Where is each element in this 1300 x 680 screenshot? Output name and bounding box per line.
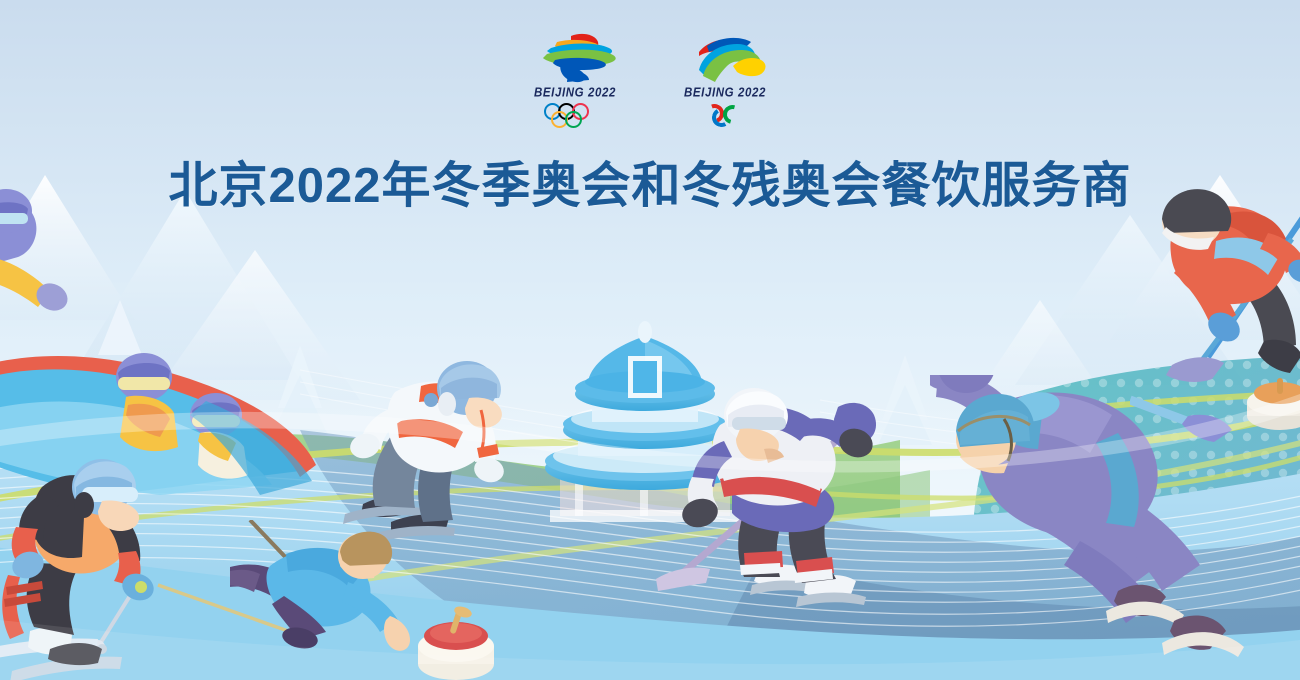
logo-olympic: BEIJING 2022: [524, 30, 626, 127]
athlete-curler-sweeper: [230, 520, 530, 680]
olympic-rings-icon: [544, 103, 606, 127]
athlete-ice-hockey-player: [640, 385, 940, 615]
paralympic-wordmark: BEIJING 2022: [684, 86, 766, 99]
olympic-wordmark: BEIJING 2022: [534, 86, 616, 99]
logo-paralympic: BEIJING 2022: [674, 30, 776, 127]
beijing-2022-banner: BEIJING 2022 BEIJING 2022: [0, 0, 1300, 680]
curling-broom-secondary: [1130, 380, 1270, 470]
paralympic-agitos-icon: [701, 103, 749, 127]
beijing-2022-olympic-emblem-icon: [527, 30, 623, 84]
beijing-2022-paralympic-emblem-icon: [677, 30, 773, 84]
page-title: 北京2022年冬季奥会和冬残奥会餐饮服务商: [0, 146, 1300, 217]
emblem-row: BEIJING 2022 BEIJING 2022: [0, 30, 1300, 140]
